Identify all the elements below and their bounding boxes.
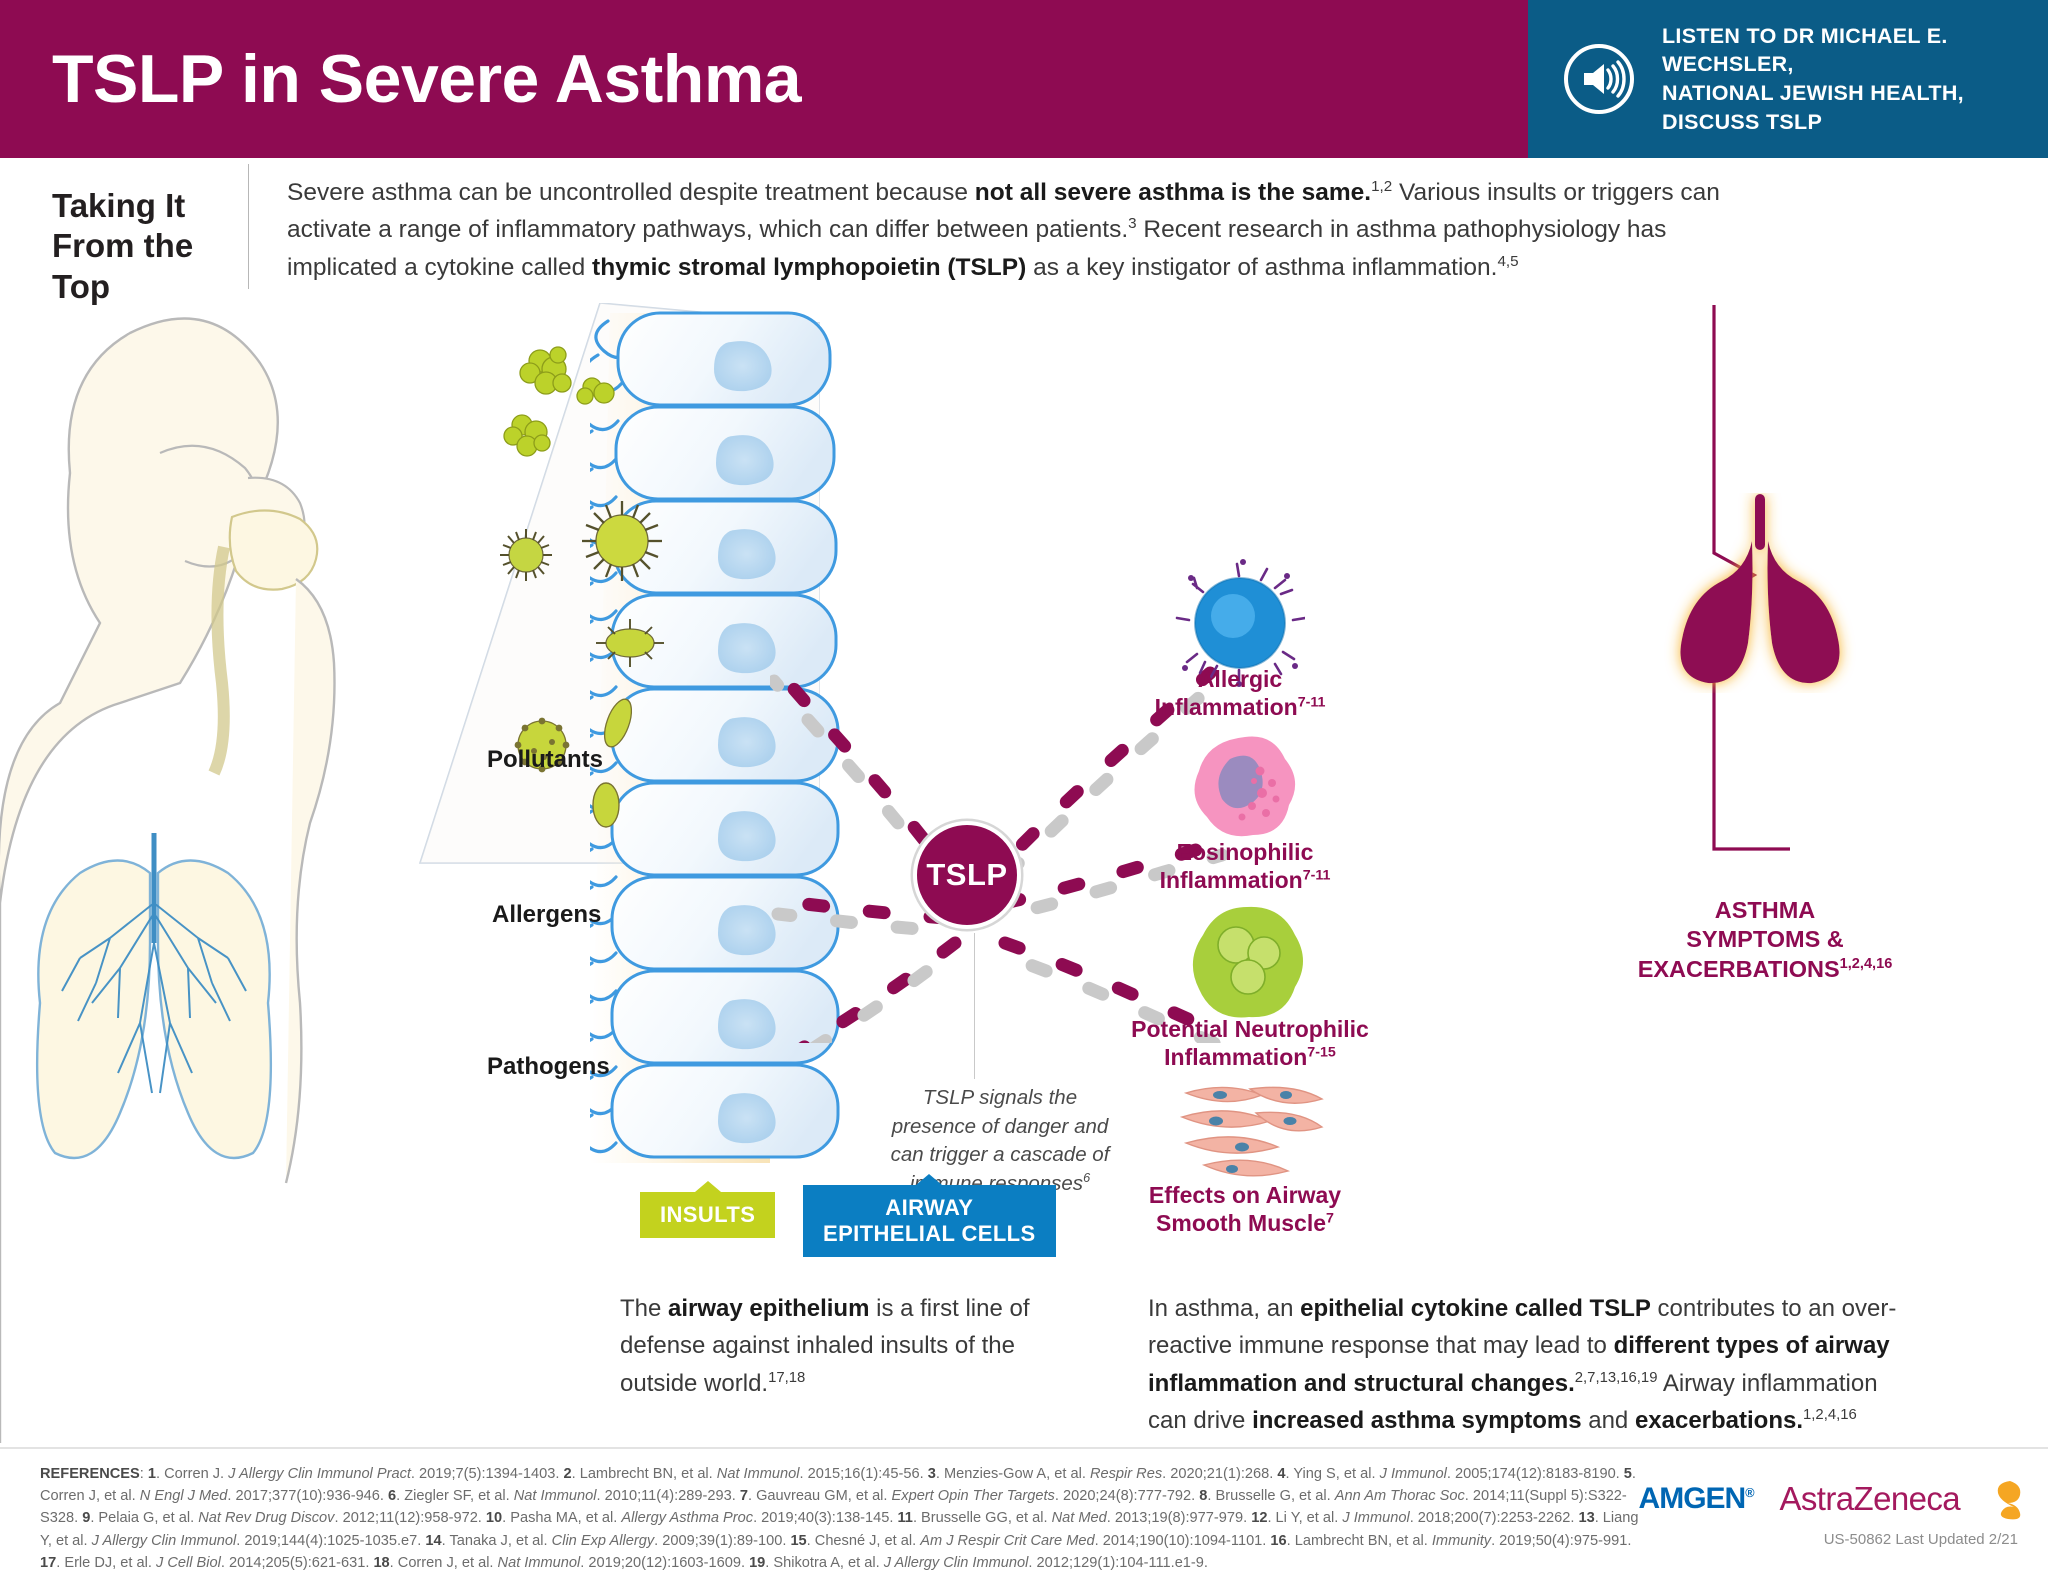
legend-insults-label: INSULTS [660, 1202, 755, 1227]
listen-line-1: LISTEN TO DR MICHAEL E. WECHSLER, [1662, 22, 2048, 79]
reference-number: 10 [486, 1510, 502, 1526]
reference-number: 7 [740, 1488, 748, 1504]
foot-right-text-4: and [1582, 1407, 1635, 1434]
reference-citation: . 2019;20(12):1603-1609. [580, 1555, 749, 1571]
outcome-label-eosinophilic-inflammation: Eosinophilic Inflammation7-11 [1120, 838, 1370, 894]
reference-authors: . Ying S, et al. [1285, 1466, 1379, 1482]
foot-right-bold-3: increased asthma symptoms [1252, 1407, 1581, 1434]
legend-chip-insults: INSULTS [640, 1192, 775, 1238]
reference-number: 14 [425, 1533, 441, 1549]
reference-authors: . Ziegler SF, et al. [396, 1488, 514, 1504]
reference-citation: . 2019;144(4):1025-1035.e7. [236, 1533, 425, 1549]
intro-paragraph: Severe asthma can be uncontrolled despit… [249, 158, 1729, 303]
legend-chip-airway-epithelial-cells: AIRWAY EPITHELIAL CELLS [803, 1185, 1056, 1257]
neutro-sup: 7-15 [1307, 1044, 1336, 1060]
asthma-line-3: EXACERBATIONS [1638, 956, 1840, 982]
amgen-logo: AMGEN® [1639, 1482, 1754, 1516]
reference-journal: J Allergy Clin Immunol Pract [228, 1466, 411, 1482]
reference-journal: Nat Med [1052, 1510, 1107, 1526]
smooth-line-2: Smooth Muscle [1156, 1210, 1326, 1236]
allergic-line-1: Allergic [1130, 665, 1350, 693]
reference-number: 1 [148, 1466, 156, 1482]
speaker-waves-icon [1562, 42, 1636, 116]
reference-number: 11 [898, 1510, 913, 1526]
references-list: REFERENCES: 1. Corren J. J Allergy Clin … [40, 1463, 1640, 1574]
reference-authors: . Li Y, et al. [1267, 1510, 1342, 1526]
reference-citation: . 2018;200(7):2253-2262. [1410, 1510, 1579, 1526]
reference-citation: . 2014;190(10):1094-1101. [1095, 1533, 1271, 1549]
smooth-muscle-cells-icon [1180, 1081, 1330, 1181]
listen-line-2: NATIONAL JEWISH HEALTH, [1662, 79, 2048, 108]
reference-journal: Nat Immunol [717, 1466, 800, 1482]
references-bar: REFERENCES: 1. Corren J. J Allergy Clin … [0, 1447, 2048, 1583]
eosinophil-icon [1190, 731, 1300, 841]
foot-right-bold-4: exacerbations [1635, 1407, 1796, 1434]
intro-sup-1: 1,2 [1371, 178, 1392, 195]
outcome-label-effects-on-airway-smooth-muscle: Effects on Airway Smooth Muscle7 [1120, 1181, 1370, 1237]
allergic-line-2: Inflammation [1155, 694, 1298, 720]
reference-citation: . 2005;174(12):8183-8190. [1447, 1466, 1624, 1482]
legend-airway-line-2: EPITHELIAL CELLS [823, 1221, 1036, 1246]
outcome-label-allergic-inflammation: Allergic Inflammation7-11 [1130, 665, 1350, 721]
eosino-line-1: Eosinophilic [1120, 838, 1370, 866]
foot-left-text-1: The [620, 1295, 668, 1322]
intro-sup-2: 3 [1128, 215, 1136, 232]
reference-journal: Am J Respir Crit Care Med [920, 1533, 1094, 1549]
lungs-icon [1660, 493, 1870, 693]
allergic-sup: 7-11 [1298, 694, 1326, 710]
intro-bold-1: not all severe asthma is the same [975, 179, 1364, 206]
reference-number: 17 [40, 1555, 56, 1571]
legend-airway-line-1: AIRWAY [885, 1195, 973, 1220]
reference-number: 3 [928, 1466, 936, 1482]
reference-journal: Allergy Asthma Proc [621, 1510, 753, 1526]
intro-bold-2: thymic stromal lymphopoietin (TSLP) [592, 254, 1026, 281]
reference-citation: . 2012;11(12):958-972. [334, 1510, 485, 1526]
footer-paragraph-right: In asthma, an epithelial cytokine called… [1148, 1290, 1918, 1440]
intro-text-4: as a key instigator of asthma inflammati… [1026, 254, 1497, 281]
reference-authors: . Chesné J, et al. [807, 1533, 921, 1549]
reference-citation: . 2019;40(3):138-145. [753, 1510, 897, 1526]
outcome-label-potential-neutrophilic-inflammation: Potential Neutrophilic Inflammation7-15 [1105, 1015, 1395, 1071]
reference-journal: J Allergy Clin Immunol [92, 1533, 237, 1549]
reference-number: 15 [790, 1533, 806, 1549]
reference-authors: . Pasha MA, et al. [502, 1510, 621, 1526]
reference-authors: . Shikotra A, et al. [765, 1555, 883, 1571]
reference-authors: . Brusselle G, et al. [1207, 1488, 1334, 1504]
intro-text-1: Severe asthma can be uncontrolled despit… [287, 179, 975, 206]
astrazeneca-swoosh-icon [1980, 1477, 2024, 1521]
tslp-hub: TSLP [913, 821, 1021, 929]
reference-citation: . 2020;24(8):777-792. [1055, 1488, 1199, 1504]
reference-journal: Nat Immunol [514, 1488, 597, 1504]
neutrophil-icon [1188, 903, 1306, 1021]
reference-authors: . Corren J, et al. [390, 1555, 498, 1571]
reference-authors: . Erle DJ, et al. [56, 1555, 156, 1571]
foot-right-text-1: In asthma, an [1148, 1295, 1300, 1322]
page-header: TSLP in Severe Asthma LISTEN TO DR MICHA… [0, 0, 2048, 158]
reference-authors: . Corren J. [156, 1466, 228, 1482]
tslp-caption-sup: 6 [1083, 1170, 1090, 1185]
reference-journal: J Immunol [1380, 1466, 1447, 1482]
reference-authors: . Menzies-Gow A, et al. [936, 1466, 1090, 1482]
reference-number: 13 [1578, 1510, 1594, 1526]
pollutant-cluster-icon [504, 347, 614, 456]
lungs-anatomy-icon [37, 833, 271, 1158]
reference-citation: . 2010;11(4):289-293. [597, 1488, 740, 1504]
reference-journal: Expert Opin Ther Targets [892, 1488, 1055, 1504]
reference-journal: Nat Immunol [498, 1555, 581, 1571]
reference-citation: . 2015;16(1):45-56. [800, 1466, 928, 1482]
foot-left-sup: 17,18 [768, 1370, 805, 1386]
reference-citation: . 2009;39(1):89-100. [654, 1533, 790, 1549]
reference-journal: J Immunol [1342, 1510, 1409, 1526]
reference-citation: . 2019;50(4):975-991. [1491, 1533, 1631, 1549]
asthma-line-2: SYMPTOMS & [1615, 925, 1915, 954]
reference-citation: . 2012;129(1):104-111.e1-9. [1028, 1555, 1208, 1571]
us-code-label: US-50862 Last Updated 2/21 [1824, 1531, 2018, 1548]
foot-left-bold: airway epithelium [668, 1295, 869, 1322]
reference-citation: . 2019;7(5):1394-1403. [411, 1466, 564, 1482]
insult-label-pollutants: Pollutants [487, 746, 603, 774]
reference-number: 6 [388, 1488, 396, 1504]
reference-citation: . 2020;21(1):268. [1162, 1466, 1277, 1482]
reference-journal: Immunity [1432, 1533, 1491, 1549]
footer-paragraph-left: The airway epithelium is a first line of… [620, 1290, 1040, 1402]
reference-number: 5 [1624, 1466, 1632, 1482]
reference-authors: . Lambrecht BN, et al. [572, 1466, 717, 1482]
smooth-sup: 7 [1326, 1210, 1334, 1226]
reference-number: 19 [749, 1555, 765, 1571]
allergen-pollen-icon [500, 501, 664, 667]
reference-number: 12 [1251, 1510, 1267, 1526]
reference-authors: . Gauvreau GM, et al. [748, 1488, 892, 1504]
reference-citation: . 2013;19(8):977-979. [1107, 1510, 1251, 1526]
astrazeneca-logo: AstraZeneca [1780, 1480, 1961, 1518]
intro-section: Taking It From the Top Severe asthma can… [0, 158, 2048, 303]
foot-right-bold-1: epithelial cytokine called TSLP [1300, 1295, 1651, 1322]
diagram-canvas: Pollutants Allergens Pathogens TSLP [0, 303, 2048, 1443]
intro-heading-line-2: From the Top [52, 226, 248, 307]
listen-line-3: DISCUSS TSLP [1662, 108, 2048, 137]
eosino-line-2: Inflammation [1160, 867, 1303, 893]
reference-authors: . Brusselle GG, et al. [913, 1510, 1052, 1526]
asthma-sup: 1,2,4,16 [1840, 956, 1893, 972]
reference-authors: . Lambrecht BN, et al. [1287, 1533, 1432, 1549]
insult-label-allergens: Allergens [492, 901, 601, 929]
reference-journal: Nat Rev Drug Discov [198, 1510, 334, 1526]
tslp-hub-label: TSLP [926, 857, 1007, 893]
reference-journal: Ann Am Thorac Soc [1335, 1488, 1465, 1504]
reference-journal: Clin Exp Allergy [552, 1533, 654, 1549]
reference-journal: Respir Res [1090, 1466, 1162, 1482]
reference-number: 16 [1270, 1533, 1286, 1549]
intro-heading: Taking It From the Top [0, 158, 248, 303]
reference-journal: N Engl J Med [140, 1488, 228, 1504]
reference-number: 18 [373, 1555, 389, 1571]
header-title-bar: TSLP in Severe Asthma [0, 0, 1528, 158]
insult-label-pathogens: Pathogens [487, 1053, 610, 1081]
tslp-caption-connector [974, 933, 975, 1079]
reference-number: 2 [563, 1466, 571, 1482]
references-heading: REFERENCES [40, 1466, 140, 1482]
listen-banner[interactable]: LISTEN TO DR MICHAEL E. WECHSLER, NATION… [1528, 0, 2048, 158]
eosino-sup: 7-11 [1303, 867, 1331, 883]
reference-journal: J Allergy Clin Immunol [884, 1555, 1029, 1571]
smooth-line-1: Effects on Airway [1120, 1181, 1370, 1209]
reference-citation: . 2014;205(5):621-631. [221, 1555, 374, 1571]
insult-particles [500, 343, 720, 963]
reference-authors: . Tanaka J, et al. [442, 1533, 552, 1549]
foot-right-sup-2: 1,2,4,16 [1803, 1407, 1857, 1423]
reference-authors: . Pelaia G, et al. [90, 1510, 198, 1526]
neutro-line-1: Potential Neutrophilic [1105, 1015, 1395, 1043]
foot-right-sup-1: 2,7,13,16,19 [1575, 1370, 1658, 1386]
listen-label: LISTEN TO DR MICHAEL E. WECHSLER, NATION… [1662, 22, 2048, 136]
intro-heading-line-1: Taking It [52, 186, 248, 226]
reference-journal: J Cell Biol [156, 1555, 221, 1571]
asthma-line-1: ASTHMA [1615, 896, 1915, 925]
reference-citation: . 2017;377(10):936-946. [227, 1488, 388, 1504]
asthma-outcome-label: ASTHMA SYMPTOMS & EXACERBATIONS1,2,4,16 [1615, 896, 1915, 984]
neutro-line-2: Inflammation [1164, 1044, 1307, 1070]
logo-group: AMGEN® AstraZeneca US-50862 Last Updated… [1639, 1477, 2024, 1548]
intro-sup-3: 4,5 [1497, 253, 1518, 270]
page-title: TSLP in Severe Asthma [52, 45, 801, 113]
